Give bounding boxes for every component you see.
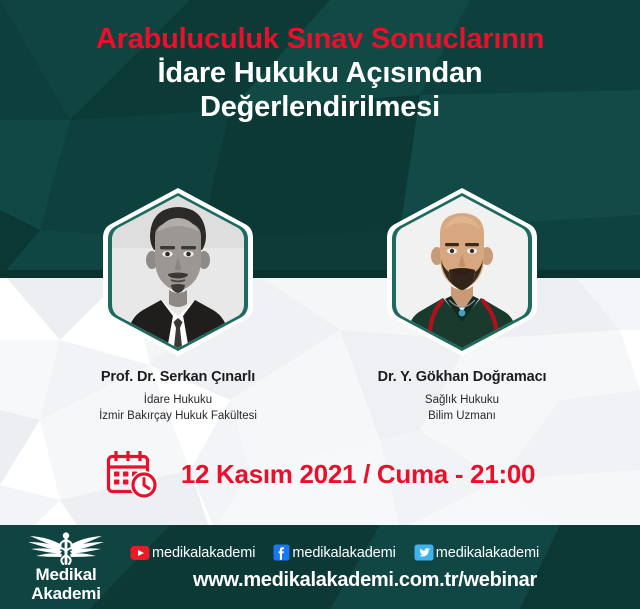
caduceus-icon	[14, 531, 118, 565]
social-handle-facebook: medikalakademi	[292, 545, 395, 561]
speaker-card: Prof. Dr. Serkan Çınarlı İdare Hukuku İz…	[78, 188, 278, 425]
speaker-photo-frame	[387, 188, 537, 356]
brand-logo: Medikal Akademi	[14, 531, 118, 603]
speaker-name: Dr. Y. Gökhan Doğramacı	[378, 369, 547, 385]
calendar-clock-icon	[105, 448, 159, 500]
title-line-1: Arabuluculuk Sınav Sonuclarının	[0, 22, 640, 56]
speaker-card: Dr. Y. Gökhan Doğramacı Sağlık Hukuku Bi…	[362, 188, 562, 425]
speaker-role-line-2: İzmir Bakırçay Hukuk Fakültesi	[99, 410, 257, 422]
event-date-text: 12 Kasım 2021 / Cuma - 21:00	[181, 459, 535, 490]
youtube-icon	[130, 545, 150, 561]
social-handle-youtube: medikalakademi	[152, 545, 255, 561]
title-line-3: Değerlendirilmesi	[0, 90, 640, 124]
webinar-poster: Arabuluculuk Sınav Sonuclarının İdare Hu…	[0, 0, 640, 609]
social-link-facebook[interactable]: medikalakademi	[273, 544, 395, 561]
event-date-row: 12 Kasım 2021 / Cuma - 21:00	[0, 448, 640, 500]
speaker-role-line-1: Sağlık Hukuku	[425, 394, 499, 406]
twitter-icon	[414, 544, 434, 561]
speaker-role: İdare Hukuku İzmir Bakırçay Hukuk Fakült…	[99, 392, 257, 425]
speaker-role-line-2: Bilim Uzmanı	[428, 410, 496, 422]
title-line-2: İdare Hukuku Açısından	[0, 56, 640, 90]
speaker-name: Prof. Dr. Serkan Çınarlı	[101, 369, 255, 385]
speaker-role: Sağlık Hukuku Bilim Uzmanı	[425, 392, 499, 425]
social-link-youtube[interactable]: medikalakademi	[130, 545, 255, 561]
speaker-role-line-1: İdare Hukuku	[144, 394, 212, 406]
brand-logo-line-2: Akademi	[14, 585, 118, 603]
page-title: Arabuluculuk Sınav Sonuclarının İdare Hu…	[0, 22, 640, 125]
facebook-icon	[273, 544, 290, 561]
social-links-row: medikalakademi medikalakademi medikalaka…	[130, 544, 630, 561]
social-link-twitter[interactable]: medikalakademi	[414, 544, 539, 561]
speaker-photo-frame	[103, 188, 253, 356]
website-url[interactable]: www.medikalakademi.com.tr/webinar	[130, 569, 600, 592]
social-handle-twitter: medikalakademi	[436, 545, 539, 561]
brand-logo-line-1: Medikal	[14, 566, 118, 584]
speakers-section: Prof. Dr. Serkan Çınarlı İdare Hukuku İz…	[0, 188, 640, 425]
